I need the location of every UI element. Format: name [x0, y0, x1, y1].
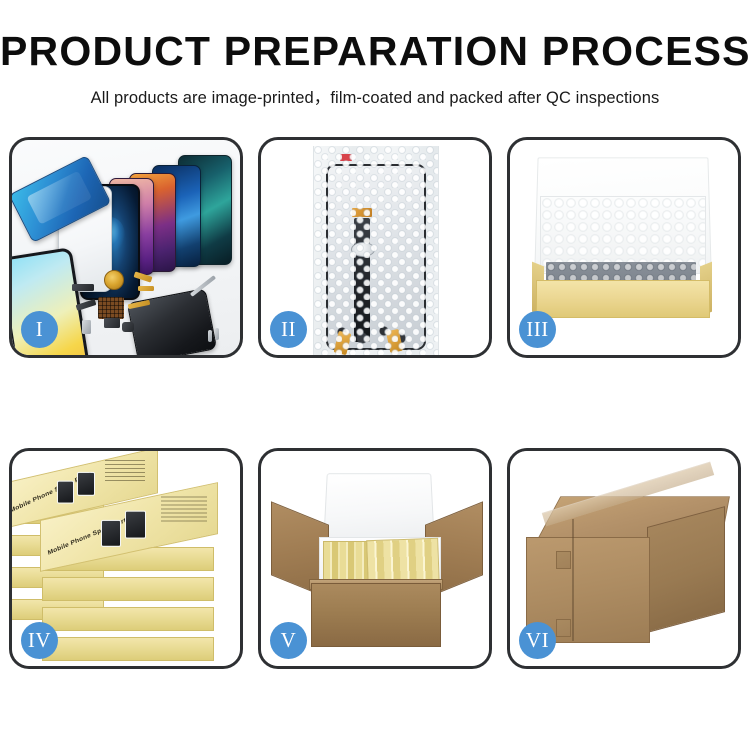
part-camera-module: [104, 318, 120, 328]
step-badge-4: IV: [21, 622, 58, 659]
step-1-image: I: [12, 140, 240, 355]
bubble-texture: [314, 146, 438, 355]
gold-box-fr-4: [42, 637, 214, 661]
step-badge-1: I: [21, 311, 58, 348]
step-badge-2: II: [270, 311, 307, 348]
inner-box-front-panel: [536, 280, 710, 318]
step-6-image: VI: [510, 451, 738, 666]
carton-vertical-seam: [572, 519, 574, 641]
step-2-image: II: [261, 140, 489, 355]
gold-box-spec-text-back: [105, 460, 145, 482]
carton-flap-mark-bottom: [556, 619, 571, 637]
foam-lid-open: [323, 473, 435, 545]
wireless-charging-coil: [104, 270, 124, 290]
process-step-grid: I II III: [9, 137, 741, 669]
process-step-panel-2[interactable]: II: [258, 137, 492, 358]
chip-array: [98, 297, 124, 319]
process-step-panel-5[interactable]: V: [258, 448, 492, 669]
step-badge-5: V: [270, 622, 307, 659]
gold-box-fr-2: [42, 577, 214, 601]
phone-back-housing: [127, 288, 217, 355]
carton-right-face: [647, 506, 725, 633]
page-title: PRODUCT PREPARATION PROCESS: [0, 30, 750, 73]
page-header: PRODUCT PREPARATION PROCESS All products…: [0, 0, 750, 108]
gold-box-spec-text-front: [161, 496, 207, 522]
step-3-image: III: [510, 140, 738, 355]
process-step-panel-6[interactable]: VI: [507, 448, 741, 669]
part-vibrator-motor: [122, 322, 134, 332]
gold-box-screen-art-back-2: [77, 472, 95, 496]
part-sim-tray: [82, 320, 91, 334]
page-subtitle: All products are image-printed，film-coat…: [0, 84, 750, 108]
step-badge-6: VI: [519, 622, 556, 659]
part-speaker-module: [72, 284, 94, 291]
carton-flap-mark-top: [556, 551, 571, 569]
step-4-image: Mobile Phone Spare Parts Mobile Phone Sp…: [12, 451, 240, 666]
process-step-panel-4[interactable]: Mobile Phone Spare Parts Mobile Phone Sp…: [9, 448, 243, 669]
part-screw-set-2: [215, 328, 219, 340]
gold-box-screen-art-front-1: [101, 520, 121, 547]
carton-body: [311, 583, 441, 647]
step-badge-3: III: [519, 311, 556, 348]
part-flex-cable-b: [138, 286, 154, 291]
gold-box-fr-3: [42, 607, 214, 631]
step-5-image: V: [261, 451, 489, 666]
gold-box-screen-art-back-1: [57, 481, 74, 504]
process-step-panel-3[interactable]: III: [507, 137, 741, 358]
bubble-wrap-bag: [313, 146, 439, 355]
gold-box-screen-art-front-2: [125, 511, 146, 539]
part-screw-set: [208, 330, 212, 342]
process-step-panel-1[interactable]: I: [9, 137, 243, 358]
